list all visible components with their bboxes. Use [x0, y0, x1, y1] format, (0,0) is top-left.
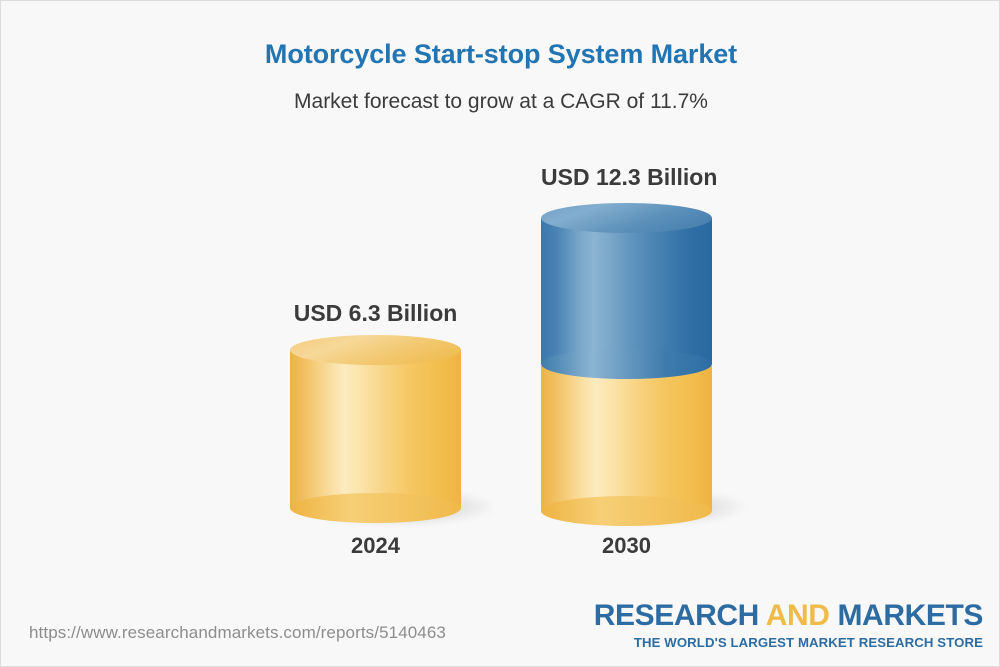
bar-body-2030-upper	[541, 218, 712, 364]
bar-value-label-2030: USD 12.3 Billion	[541, 164, 712, 191]
logo-tagline: THE WORLD'S LARGEST MARKET RESEARCH STOR…	[594, 636, 983, 649]
bar-value-label-2024: USD 6.3 Billion	[290, 300, 461, 327]
bar-base-ellipse-2030	[541, 496, 712, 526]
bar-category-label-2030: 2030	[541, 533, 712, 559]
logo-word-markets: MARKETS	[837, 599, 983, 632]
bar-base-ellipse-2024	[290, 493, 461, 523]
logo-wordmark: RESEARCH AND MARKETS	[594, 601, 983, 631]
bar-body-2030-lower	[541, 366, 712, 511]
infographic-canvas: Motorcycle Start-stop System Market Mark…	[0, 0, 1000, 667]
logo-word-and-text: AND	[766, 599, 830, 632]
research-and-markets-logo[interactable]: RESEARCH AND MARKETS THE WORLD'S LARGEST…	[594, 601, 983, 649]
bar-segment-seam-2030	[541, 349, 712, 379]
bar-cylinder-2024	[290, 335, 461, 515]
bar-top-ellipse-2024	[290, 335, 461, 365]
bar-body-2024	[290, 350, 461, 508]
chart-plot-area: USD 6.3 Billion 2024 USD 12.3 Billion 20…	[1, 1, 1000, 601]
logo-word-research: RESEARCH	[594, 599, 759, 632]
bar-cylinder-2030-upper-segment	[541, 203, 712, 378]
logo-word-and: AND	[759, 599, 838, 632]
bar-top-ellipse-2030	[541, 203, 712, 233]
bar-category-label-2024: 2024	[290, 533, 461, 559]
report-url[interactable]: https://www.researchandmarkets.com/repor…	[29, 623, 446, 643]
